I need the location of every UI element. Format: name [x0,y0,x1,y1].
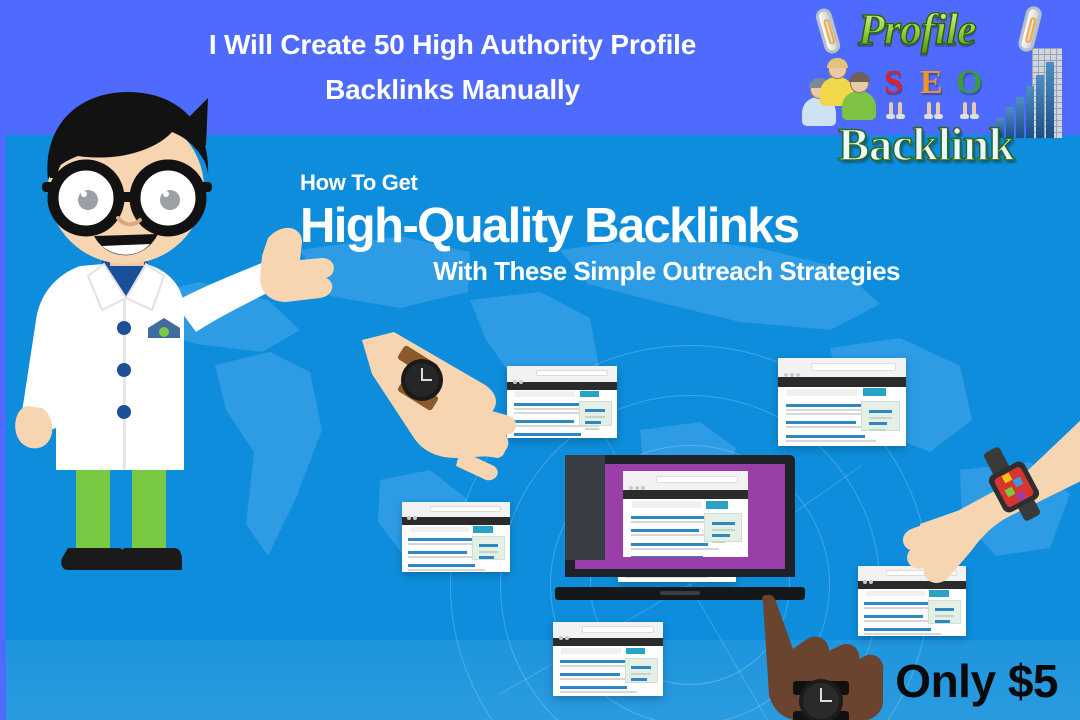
scientist-shoe-left [61,548,126,570]
window-dots-icon [407,507,424,511]
search-field[interactable] [787,389,857,396]
scientist-coat-button [117,405,131,419]
scientist-left-hand [15,406,52,448]
url-bar[interactable] [582,626,655,633]
results-sidebar [704,513,742,542]
search-button[interactable] [580,391,600,398]
results-sidebar [472,536,504,559]
search-button[interactable] [473,526,492,532]
pointing-hand-left [360,330,535,485]
price-label: Only $5 [895,654,1058,708]
pointing-hand-bottom [745,595,895,720]
url-bar[interactable] [536,370,609,376]
search-field[interactable] [410,527,469,532]
browser-chrome [402,502,510,517]
pointing-hand-right [890,410,1080,595]
search-row [623,499,748,510]
result-item[interactable] [631,543,741,550]
url-bar[interactable] [811,363,895,371]
result-item[interactable] [408,564,503,571]
nav-bar [623,490,748,499]
person-avatar-icon [842,74,876,120]
results-body [553,656,663,696]
scientist-coat-button [117,321,131,335]
laptop-trackpad-notch [660,591,700,595]
logo-letter-s: S [884,64,903,102]
window-dots-icon [863,571,880,575]
window-dots-icon [629,477,649,482]
browser-chrome [553,622,663,638]
gig-thumbnail-stage: How To Get High-Quality Backlinks With T… [0,0,1080,720]
search-button[interactable] [706,501,729,509]
search-field[interactable] [632,501,701,507]
laptop-device [555,455,805,600]
search-button[interactable] [626,648,646,655]
results-body [778,398,906,446]
browser-card-mid-left[interactable] [402,502,510,572]
search-row [553,646,663,656]
scientist-hand [260,228,334,302]
black-watch [793,679,849,720]
browser-chrome [623,471,748,490]
search-row [778,387,906,398]
nav-bar [778,377,906,387]
chart-bar [1046,62,1054,138]
browser-chrome [778,358,906,377]
headline-main: High-Quality Backlinks [300,198,900,254]
scientist-shoe-right [117,548,182,570]
chart-bar [1026,86,1034,138]
page-title-line1: I Will Create 50 High Authority Profile [0,22,905,67]
result-item[interactable] [560,686,657,693]
scientist-coat-button [117,363,131,377]
paperclip-icon [814,7,842,56]
window-dots-icon [559,627,577,631]
chart-bar [1036,75,1044,138]
logo-word-backlink: Backlink [838,118,1014,172]
cartoon-scientist [6,70,356,585]
laptop-screen-sidebar [565,455,605,560]
search-field[interactable] [561,648,622,654]
results-sidebar [928,600,960,623]
laptop-browser-window[interactable] [623,471,748,557]
browser-card-bottom-center[interactable] [553,622,663,696]
logo-letter-e: E [920,64,943,102]
url-bar[interactable] [430,506,501,512]
paperclip-icon [1017,5,1044,54]
result-item[interactable] [786,435,899,442]
profile-seo-backlink-logo: Profile S E O Backlink [800,2,1076,190]
browser-card-top-right[interactable] [778,358,906,446]
search-row [402,525,510,534]
results-body [623,511,748,557]
nav-bar [402,517,510,525]
result-item[interactable] [631,556,741,557]
window-dots-icon [784,364,804,369]
results-sidebar [579,401,612,425]
nav-bar [553,638,663,646]
results-body [402,534,510,572]
logo-word-profile: Profile [858,4,976,55]
url-bar[interactable] [656,476,739,484]
search-button[interactable] [863,388,886,396]
headline-sub: With These Simple Outreach Strategies [300,256,900,287]
results-sidebar [625,658,658,683]
logo-letter-o: O [956,64,982,102]
chart-bar [1016,97,1024,138]
